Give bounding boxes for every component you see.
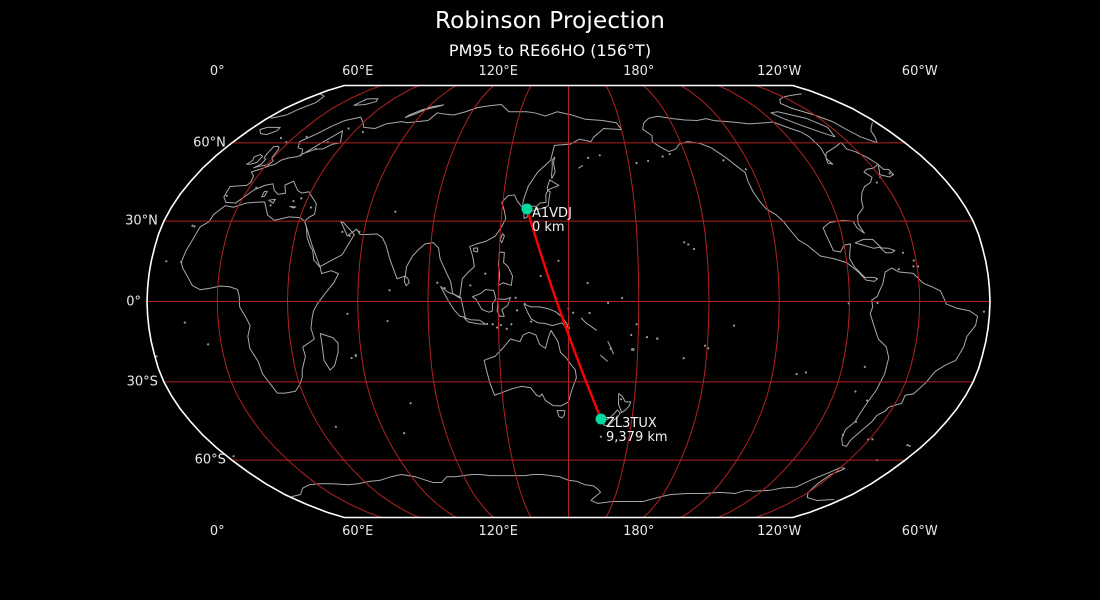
- coastline-newzealand_n: [618, 394, 630, 413]
- lat-label-1: 30°N: [102, 214, 158, 229]
- island-dot: [898, 268, 900, 270]
- coastline-eurasia: [224, 105, 622, 298]
- island-dot: [636, 323, 638, 325]
- lon-label-top-3: 180°: [623, 64, 654, 79]
- map-figure: Robinson Projection PM95 to RE66HO (156°…: [0, 0, 1100, 600]
- lon-label-bottom-1: 60°E: [342, 524, 373, 539]
- lon-label-bottom-4: 120°W: [757, 524, 801, 539]
- island-dot: [912, 265, 914, 267]
- island-dot: [889, 172, 891, 174]
- coastline-tasmania: [557, 410, 565, 417]
- island-dot: [587, 282, 589, 284]
- island-dot: [876, 302, 878, 304]
- station-distance-a1vdj: 0 km: [532, 220, 565, 235]
- lon-label-top-5: 60°W: [902, 64, 938, 79]
- island-dot: [180, 261, 182, 263]
- island-dot: [410, 402, 412, 404]
- island-dot: [630, 334, 632, 336]
- island-dot: [358, 231, 360, 233]
- station-marker-zl3tux[interactable]: [596, 414, 607, 425]
- coastline-hainan: [474, 248, 478, 252]
- lat-label-2: 0°: [85, 294, 141, 309]
- lon-label-bottom-5: 60°W: [902, 524, 938, 539]
- station-marker-a1vdj[interactable]: [522, 204, 533, 215]
- island-dot: [871, 438, 873, 440]
- island-dot: [600, 436, 602, 438]
- island-dot: [669, 153, 671, 155]
- island-dot: [362, 131, 364, 133]
- island-dot: [403, 432, 405, 434]
- island-dot: [394, 211, 396, 213]
- lat-label-4: 60°S: [170, 453, 226, 468]
- island-dot: [687, 243, 689, 245]
- coastline-svalbard: [354, 99, 378, 106]
- coastline-iceland: [260, 127, 281, 134]
- island-dot: [722, 159, 724, 161]
- island-dot: [635, 162, 637, 164]
- coastline-greenland: [871, 123, 877, 143]
- island-dot: [906, 444, 908, 446]
- coastline-samerica: [842, 268, 978, 446]
- island-dot: [892, 174, 894, 176]
- island-dot: [496, 326, 498, 328]
- coastline-namerica: [643, 116, 878, 281]
- coastline-newcaledonia: [601, 355, 608, 361]
- coastline-hispaniola: [880, 248, 895, 253]
- coastline-madagascar: [320, 334, 338, 370]
- coastlines-layer: [155, 94, 985, 504]
- island-dot: [855, 421, 857, 423]
- island-dot: [506, 328, 508, 330]
- coastline-philippines: [498, 252, 512, 285]
- robinson-map-canvas: [0, 0, 1100, 600]
- island-dot: [191, 225, 193, 227]
- coastline-ireland: [247, 155, 263, 165]
- island-dot: [621, 297, 623, 299]
- island-dot: [315, 148, 317, 150]
- island-dot: [436, 282, 438, 284]
- island-dot: [866, 399, 868, 401]
- island-dot: [443, 287, 445, 289]
- station-callsign-zl3tux: ZL3TUX: [606, 416, 657, 431]
- island-dot: [207, 343, 209, 345]
- coastline-greenland: [780, 94, 877, 143]
- coastline-sicily: [269, 199, 276, 203]
- island-dot: [842, 434, 844, 436]
- island-dot: [540, 275, 542, 277]
- lon-label-bottom-2: 120°E: [478, 524, 518, 539]
- island-dot: [587, 157, 589, 159]
- coastline-kamchatka_is: [579, 166, 583, 169]
- coastline-sulawesi: [497, 297, 510, 316]
- island-dot: [557, 260, 559, 262]
- coastline-newfound: [878, 165, 893, 177]
- island-dot: [292, 200, 294, 202]
- island-dot: [346, 313, 348, 315]
- island-dot: [646, 336, 648, 338]
- lon-label-bottom-3: 180°: [623, 524, 654, 539]
- island-dot: [704, 345, 706, 347]
- station-distance-zl3tux: 9,379 km: [606, 430, 668, 445]
- island-dot: [647, 160, 649, 162]
- island-dot: [306, 136, 308, 138]
- island-dot: [193, 225, 195, 227]
- island-dot: [524, 303, 526, 305]
- island-dot: [184, 322, 186, 324]
- coastline-cuba: [855, 239, 880, 248]
- lon-label-top-0: 0°: [210, 64, 225, 79]
- station-callsign-a1vdj: A1VDJ: [532, 206, 572, 221]
- lon-label-top-1: 60°E: [342, 64, 373, 79]
- coastline-vanuatu: [608, 342, 613, 354]
- island-dot: [233, 455, 235, 457]
- lon-label-top-2: 120°E: [478, 64, 518, 79]
- island-dot: [902, 252, 904, 254]
- lon-label-bottom-0: 0°: [210, 524, 225, 539]
- island-dot: [745, 168, 747, 170]
- lat-label-0: 60°N: [170, 135, 226, 150]
- island-dot: [876, 181, 878, 183]
- island-dot: [269, 204, 271, 206]
- island-dot: [854, 390, 856, 392]
- coastline-java: [464, 318, 486, 325]
- island-dot: [280, 137, 282, 139]
- island-dot: [909, 445, 911, 447]
- island-dot: [913, 259, 915, 261]
- island-dot: [530, 320, 532, 322]
- island-dot: [983, 311, 985, 313]
- island-dot: [805, 371, 807, 373]
- island-dot: [510, 323, 512, 325]
- island-dot: [683, 241, 685, 243]
- coastline-africa: [181, 202, 338, 393]
- coastline-borneo: [473, 289, 496, 312]
- island-dot: [469, 284, 471, 286]
- island-dot: [300, 154, 302, 156]
- island-dot: [599, 154, 601, 156]
- island-dot: [662, 155, 664, 157]
- island-dot: [165, 260, 167, 262]
- island-dot: [335, 426, 337, 428]
- coastline-sardinia: [262, 191, 268, 197]
- island-dot: [226, 195, 228, 197]
- lon-label-top-4: 120°W: [757, 64, 801, 79]
- island-dot: [588, 312, 590, 314]
- island-dot: [733, 325, 735, 327]
- island-dot: [348, 235, 350, 237]
- island-dot: [484, 273, 486, 275]
- island-dot: [310, 206, 312, 208]
- island-dot: [347, 127, 349, 129]
- island-dot: [693, 248, 695, 250]
- island-dot: [351, 357, 353, 359]
- coastline-taiwan: [500, 234, 504, 243]
- island-dot: [864, 366, 866, 368]
- island-dot: [386, 320, 388, 322]
- island-dot: [388, 289, 390, 291]
- island-dot: [492, 323, 494, 325]
- island-dot: [656, 338, 658, 340]
- lat-label-3: 30°S: [102, 374, 158, 389]
- island-dot: [796, 373, 798, 375]
- island-dot: [620, 398, 622, 400]
- island-dot: [355, 354, 357, 356]
- coastline-crete: [290, 206, 296, 208]
- graticule-layer: [147, 86, 990, 518]
- island-dot: [255, 187, 257, 189]
- island-dot: [683, 357, 685, 359]
- island-dot: [607, 302, 609, 304]
- coastline-srilanka: [404, 276, 409, 286]
- coastline-antarctica: [613, 467, 845, 501]
- island-dot: [300, 197, 302, 199]
- island-dot: [486, 323, 488, 325]
- coastline-fiji: [631, 348, 634, 350]
- island-dot: [341, 231, 343, 233]
- island-dot: [610, 348, 612, 350]
- island-dot: [500, 324, 502, 326]
- coastline-australia: [484, 330, 576, 405]
- island-dot: [515, 297, 517, 299]
- coastline-greenland: [271, 94, 324, 119]
- island-dot: [572, 312, 574, 314]
- coastline-sakhalin: [552, 157, 556, 178]
- coastline-solomon: [581, 318, 596, 330]
- island-dot: [516, 309, 518, 311]
